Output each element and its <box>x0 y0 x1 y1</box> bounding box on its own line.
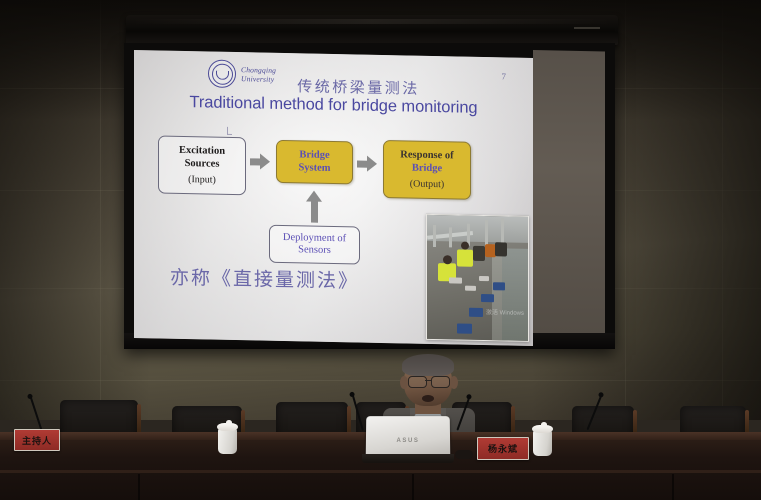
photo-worker <box>495 242 507 256</box>
photo-instrument <box>465 286 476 291</box>
slide-note-chinese: 亦称《直接量测法》 <box>170 263 359 294</box>
glasses-icon <box>408 376 427 388</box>
diagram-box-bridge-system: Bridge System <box>276 140 353 185</box>
photo-post <box>449 227 452 247</box>
projector-screen-housing <box>126 15 618 45</box>
photo-equipment-case <box>457 323 472 333</box>
screen-unlit-area <box>533 50 605 343</box>
presenter-ear <box>400 376 408 389</box>
diagram-box-response: Response of Bridge (Output) <box>383 140 471 200</box>
photo-equipment-case <box>469 308 483 317</box>
photo-worker <box>473 246 485 261</box>
photo-post <box>433 225 436 247</box>
photo-instrument <box>449 277 462 283</box>
housing-highlight <box>134 19 610 24</box>
presenter-mouth <box>422 395 434 402</box>
glasses-bridge <box>425 380 431 381</box>
arrow-right-icon <box>357 155 377 171</box>
photo-equipment-case <box>481 294 494 302</box>
name-placard-moderator: 主持人 <box>14 429 60 451</box>
projected-slide: Chongqing University 7 传统桥梁量测法 Tradition… <box>134 50 533 346</box>
diagram-box-deployment: Deployment of Sensors <box>269 225 360 265</box>
arrow-right-icon <box>250 153 270 169</box>
presenter-hair <box>402 354 454 376</box>
glasses-icon <box>431 376 450 388</box>
housing-brand-mark <box>574 27 600 29</box>
windows-activation-watermark: 激活 Windows <box>486 309 524 319</box>
desk-object <box>455 450 473 459</box>
arrow-up-icon <box>306 190 323 222</box>
photo-equipment-case <box>493 282 505 290</box>
teacup <box>533 431 552 456</box>
desk-panel-seam <box>672 474 674 500</box>
asus-logo: ASUS <box>396 438 419 444</box>
desk-panel-seam <box>138 474 140 500</box>
photo-worker-vest <box>457 249 473 266</box>
laptop-lid: ASUS <box>366 416 450 456</box>
teacup <box>218 429 237 454</box>
presenter-ear <box>450 376 458 389</box>
laptop-keyboard[interactable] <box>362 454 454 463</box>
photo-post <box>485 220 488 246</box>
photo-parapet <box>492 244 502 340</box>
presenter-laptop[interactable]: ASUS <box>362 416 454 460</box>
mouse-cursor-icon <box>227 127 232 135</box>
bridge-sensor-photo: 激活 Windows <box>426 214 529 342</box>
desk-panel-seam <box>412 474 414 500</box>
diagram-box-excitation: Excitation Sources (Input) <box>158 135 246 195</box>
photo-worker-head <box>443 255 452 264</box>
photo-instrument <box>479 276 489 281</box>
photo-water <box>498 248 528 341</box>
photo-worker-head <box>461 242 469 250</box>
desk-edge-trim <box>0 470 761 473</box>
name-placard-presenter: 杨永斌 <box>477 437 529 460</box>
conference-room-scene: Chongqing University 7 传统桥梁量测法 Tradition… <box>0 0 761 500</box>
